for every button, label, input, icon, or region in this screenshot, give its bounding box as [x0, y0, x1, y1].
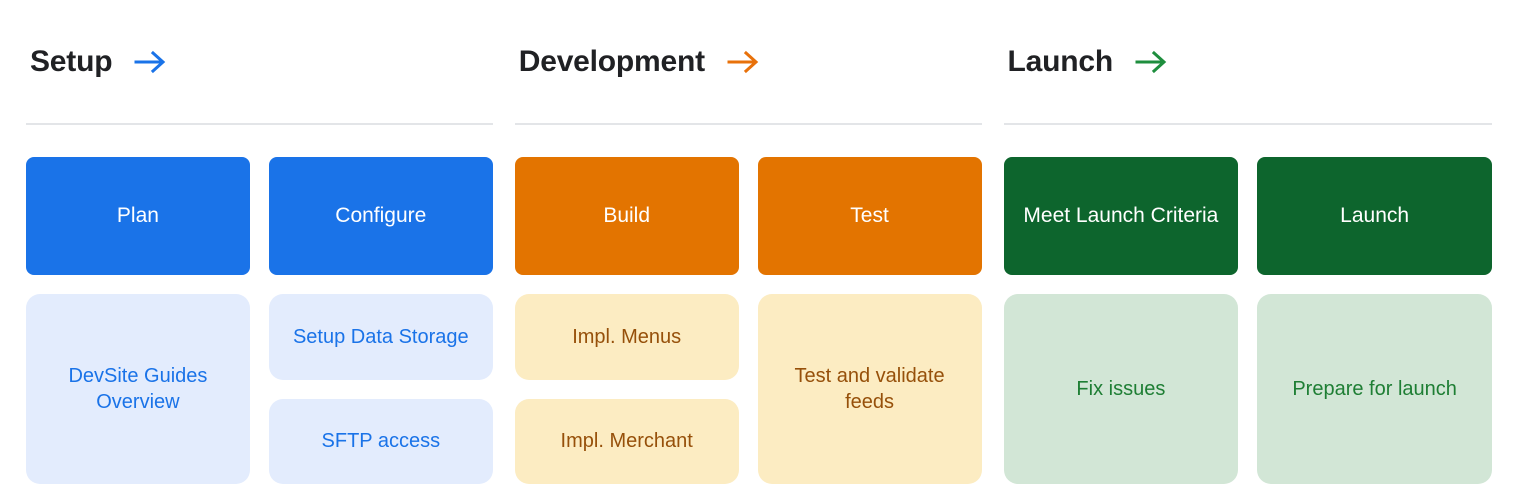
card-column-launch: Launch Prepare for launch — [1257, 157, 1492, 484]
sub-card-group-plan: DevSite Guides Overview — [26, 294, 250, 484]
card-column-configure: Configure Setup Data Storage SFTP access — [269, 157, 493, 484]
main-card-launch[interactable]: Launch — [1257, 157, 1492, 275]
phase-header-setup: Setup — [26, 0, 493, 123]
sub-card-impl-menus[interactable]: Impl. Menus — [515, 294, 739, 380]
arrow-right-icon — [1135, 49, 1169, 75]
sub-card-test-and-validate-feeds[interactable]: Test and validate feeds — [758, 294, 982, 484]
phase-title-development: Development — [519, 45, 705, 79]
sub-card-setup-data-storage[interactable]: Setup Data Storage — [269, 294, 493, 380]
arrow-right-icon — [134, 49, 168, 75]
phase-cards-setup: Plan DevSite Guides Overview Configure S… — [26, 157, 493, 484]
phase-divider-development — [515, 123, 982, 125]
main-card-build[interactable]: Build — [515, 157, 739, 275]
phase-divider-launch — [1004, 123, 1493, 125]
phase-development: Development Build Impl. Menus Impl. Merc… — [515, 0, 1004, 484]
sub-card-group-meet-launch-criteria: Fix issues — [1004, 294, 1239, 484]
phase-title-launch: Launch — [1008, 45, 1113, 79]
sub-card-devsite-guides-overview[interactable]: DevSite Guides Overview — [26, 294, 250, 484]
phase-divider-setup — [26, 123, 493, 125]
sub-card-prepare-for-launch[interactable]: Prepare for launch — [1257, 294, 1492, 484]
roadmap-diagram: Setup Plan DevSite Guides Overview Confi… — [0, 0, 1518, 484]
arrow-right-icon — [727, 49, 761, 75]
sub-card-group-build: Impl. Menus Impl. Merchant — [515, 294, 739, 484]
main-card-configure[interactable]: Configure — [269, 157, 493, 275]
card-column-meet-launch-criteria: Meet Launch Criteria Fix issues — [1004, 157, 1239, 484]
phase-cards-launch: Meet Launch Criteria Fix issues Launch P… — [1004, 157, 1493, 484]
sub-card-group-test: Test and validate feeds — [758, 294, 982, 484]
sub-card-fix-issues[interactable]: Fix issues — [1004, 294, 1239, 484]
card-column-build: Build Impl. Menus Impl. Merchant — [515, 157, 739, 484]
sub-card-group-configure: Setup Data Storage SFTP access — [269, 294, 493, 484]
phase-title-setup: Setup — [30, 45, 112, 79]
phase-header-launch: Launch — [1004, 0, 1493, 123]
phase-header-development: Development — [515, 0, 982, 123]
main-card-meet-launch-criteria[interactable]: Meet Launch Criteria — [1004, 157, 1239, 275]
main-card-plan[interactable]: Plan — [26, 157, 250, 275]
phase-launch: Launch Meet Launch Criteria Fix issues L… — [1004, 0, 1493, 484]
card-column-plan: Plan DevSite Guides Overview — [26, 157, 250, 484]
sub-card-sftp-access[interactable]: SFTP access — [269, 399, 493, 484]
main-card-test[interactable]: Test — [758, 157, 982, 275]
phase-cards-development: Build Impl. Menus Impl. Merchant Test Te… — [515, 157, 982, 484]
card-column-test: Test Test and validate feeds — [758, 157, 982, 484]
sub-card-impl-merchant[interactable]: Impl. Merchant — [515, 399, 739, 484]
phase-setup: Setup Plan DevSite Guides Overview Confi… — [26, 0, 515, 484]
sub-card-group-launch: Prepare for launch — [1257, 294, 1492, 484]
